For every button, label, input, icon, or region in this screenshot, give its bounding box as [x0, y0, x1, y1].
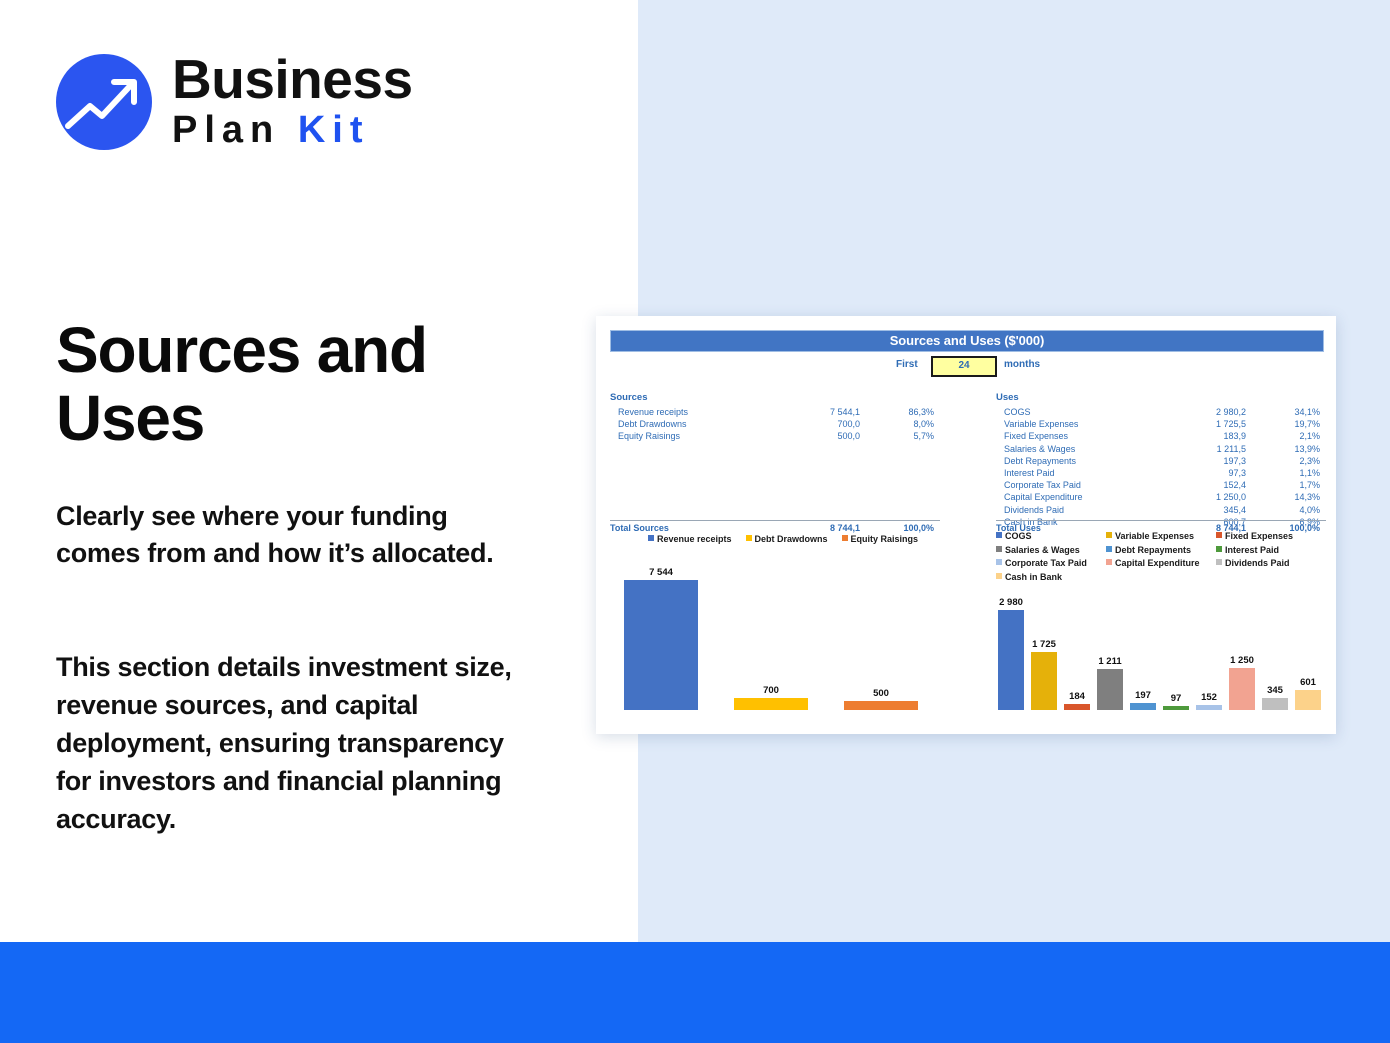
uses-legend-item: Debt Repayments [1106, 544, 1216, 558]
sources-row-pct: 5,7% [868, 430, 934, 442]
uses-legend-label: Debt Repayments [1115, 545, 1191, 555]
uses-row-value: 1 211,5 [1166, 443, 1246, 455]
legend-swatch-icon [996, 532, 1002, 538]
table-row: Interest Paid97,31,1% [996, 467, 1326, 479]
sources-row-name: Equity Raisings [618, 430, 680, 442]
uses-chart-legend: COGSVariable ExpensesFixed ExpensesSalar… [996, 530, 1332, 584]
uses-legend-item: Variable Expenses [1106, 530, 1216, 544]
table-row: Dividends Paid345,44,0% [996, 504, 1326, 516]
brand-line-1: Business [172, 50, 413, 108]
uses-legend-label: Variable Expenses [1115, 531, 1194, 541]
uses-table-header: Uses [996, 392, 1326, 403]
card-title: Sources and Uses ($'000) [610, 330, 1324, 352]
legend-swatch-icon [842, 535, 848, 541]
uses-bar-chart: 2 9801 7251841 211197971521 250345601 [992, 592, 1328, 722]
uses-row-pct: 34,1% [1254, 406, 1320, 418]
legend-swatch-icon [1106, 546, 1112, 552]
growth-arrow-circle-icon [56, 54, 152, 150]
legend-swatch-icon [1216, 559, 1222, 565]
legend-swatch-icon [1106, 532, 1112, 538]
sources-row-name: Debt Drawdowns [618, 418, 687, 430]
uses-row-value: 183,9 [1166, 430, 1246, 442]
uses-row-pct: 2,3% [1254, 455, 1320, 467]
uses-legend-label: Corporate Tax Paid [1005, 558, 1087, 568]
uses-legend-label: Fixed Expenses [1225, 531, 1293, 541]
table-row: Variable Expenses1 725,519,7% [996, 418, 1326, 430]
sources-total-pct: 100,0% [868, 523, 934, 533]
sources-row-value: 500,0 [780, 430, 860, 442]
uses-bar-value-label: 1 250 [1212, 655, 1272, 666]
legend-swatch-icon [746, 535, 752, 541]
sources-bar-group: 700 [734, 698, 808, 710]
sources-legend-label: Equity Raisings [851, 534, 919, 544]
uses-bar [1130, 703, 1156, 710]
table-row: Debt Repayments197,32,3% [996, 455, 1326, 467]
legend-swatch-icon [648, 535, 654, 541]
brand-plan-text: Plan [172, 109, 280, 151]
uses-row-pct: 13,9% [1254, 443, 1320, 455]
uses-row-pct: 14,3% [1254, 491, 1320, 503]
sources-legend-label: Debt Drawdowns [755, 534, 828, 544]
uses-row-pct: 4,0% [1254, 504, 1320, 516]
uses-legend-item: COGS [996, 530, 1106, 544]
legend-swatch-icon [1216, 546, 1222, 552]
sources-row-pct: 86,3% [868, 406, 934, 418]
sources-bar-value-label: 700 [741, 685, 801, 696]
uses-row-value: 1 725,5 [1166, 418, 1246, 430]
uses-bar-group: 197 [1130, 703, 1156, 710]
uses-legend-label: Capital Expenditure [1115, 558, 1200, 568]
sources-total-label: Total Sources [610, 523, 669, 533]
sources-bar-value-label: 7 544 [631, 567, 691, 578]
uses-bar-group: 345 [1262, 698, 1288, 710]
uses-row-pct: 1,1% [1254, 467, 1320, 479]
table-row: Capital Expenditure1 250,014,3% [996, 491, 1326, 503]
sources-table: Sources Revenue receipts7 544,186,3%Debt… [610, 392, 940, 443]
sources-bar-value-label: 500 [851, 688, 911, 699]
uses-row-name: Variable Expenses [1004, 418, 1078, 430]
uses-row-value: 197,3 [1166, 455, 1246, 467]
uses-row-pct: 19,7% [1254, 418, 1320, 430]
uses-bar-group: 601 [1295, 690, 1321, 710]
brand-wordmark: Business Plan Kit [172, 50, 413, 152]
uses-row-pct: 2,1% [1254, 430, 1320, 442]
page-title: Sources and Uses [56, 316, 576, 452]
uses-bar-group: 152 [1196, 705, 1222, 710]
uses-legend-item: Cash in Bank [996, 571, 1106, 585]
spreadsheet-screenshot-card: Sources and Uses ($'000) First 24 months… [596, 316, 1336, 734]
sources-legend-item: Revenue receipts [648, 534, 732, 544]
detail-paragraph: This section details investment size, re… [56, 648, 526, 838]
sources-row-value: 700,0 [780, 418, 860, 430]
uses-row-value: 152,4 [1166, 479, 1246, 491]
sources-bar [844, 701, 918, 710]
brand-logo: Business Plan Kit [56, 46, 456, 158]
uses-legend-item: Capital Expenditure [1106, 557, 1216, 571]
uses-row-value: 345,4 [1166, 504, 1246, 516]
uses-bar [1064, 704, 1090, 710]
table-row: Revenue receipts7 544,186,3% [610, 406, 940, 418]
sources-legend-label: Revenue receipts [657, 534, 732, 544]
sources-bar-group: 500 [844, 701, 918, 710]
sources-bar-group: 7 544 [624, 580, 698, 710]
uses-bar [998, 610, 1024, 710]
sources-bar [624, 580, 698, 710]
uses-legend-label: Cash in Bank [1005, 572, 1062, 582]
uses-bar-value-label: 601 [1278, 677, 1338, 688]
uses-row-name: COGS [1004, 406, 1031, 418]
uses-row-value: 1 250,0 [1166, 491, 1246, 503]
uses-row-name: Corporate Tax Paid [1004, 479, 1081, 491]
brand-line-2: Plan Kit [172, 108, 413, 152]
legend-swatch-icon [996, 573, 1002, 579]
table-row: Salaries & Wages1 211,513,9% [996, 443, 1326, 455]
uses-table: Uses COGS2 980,234,1%Variable Expenses1 … [996, 392, 1326, 528]
uses-bar [1262, 698, 1288, 710]
sources-row-pct: 8,0% [868, 418, 934, 430]
uses-legend-item: Dividends Paid [1216, 557, 1326, 571]
uses-bar-value-label: 1 725 [1014, 639, 1074, 650]
uses-legend-item: Fixed Expenses [1216, 530, 1326, 544]
table-row: Debt Drawdowns700,08,0% [610, 418, 940, 430]
uses-bar-value-label: 1 211 [1080, 656, 1140, 667]
uses-bar [1196, 705, 1222, 710]
sources-row-value: 7 544,1 [780, 406, 860, 418]
uses-row-value: 2 980,2 [1166, 406, 1246, 418]
uses-bar-group: 184 [1064, 704, 1090, 710]
uses-row-name: Salaries & Wages [1004, 443, 1075, 455]
uses-bar-group: 2 980 [998, 610, 1024, 710]
sources-bar-chart: 7 544700500 [610, 562, 940, 722]
months-input[interactable]: 24 [931, 356, 997, 377]
uses-row-name: Capital Expenditure [1004, 491, 1083, 503]
table-row: Equity Raisings500,05,7% [610, 430, 940, 442]
table-row: Corporate Tax Paid152,41,7% [996, 479, 1326, 491]
uses-bar-value-label: 2 980 [981, 597, 1041, 608]
sources-legend-item: Debt Drawdowns [746, 534, 828, 544]
uses-legend-label: Dividends Paid [1225, 558, 1290, 568]
uses-legend-item: Corporate Tax Paid [996, 557, 1106, 571]
legend-swatch-icon [1216, 532, 1222, 538]
uses-row-pct: 1,7% [1254, 479, 1320, 491]
uses-legend-item: Salaries & Wages [996, 544, 1106, 558]
sources-table-header: Sources [610, 392, 940, 403]
months-prefix-label: First [896, 356, 918, 374]
uses-row-name: Interest Paid [1004, 467, 1055, 479]
sources-bar [734, 698, 808, 710]
uses-legend-item: Interest Paid [1216, 544, 1326, 558]
legend-swatch-icon [1106, 559, 1112, 565]
intro-paragraph: Clearly see where your funding comes fro… [56, 498, 526, 572]
uses-bar [1163, 706, 1189, 710]
sources-chart-legend: Revenue receiptsDebt DrawdownsEquity Rai… [628, 534, 938, 544]
uses-legend-label: COGS [1005, 531, 1032, 541]
sources-row-name: Revenue receipts [618, 406, 688, 418]
bottom-accent-bar [0, 942, 1390, 1043]
uses-row-name: Dividends Paid [1004, 504, 1064, 516]
uses-legend-label: Salaries & Wages [1005, 545, 1080, 555]
uses-bar-group: 97 [1163, 706, 1189, 710]
months-suffix-label: months [1004, 356, 1040, 374]
sources-legend-item: Equity Raisings [842, 534, 919, 544]
uses-legend-label: Interest Paid [1225, 545, 1279, 555]
table-row: Fixed Expenses183,92,1% [996, 430, 1326, 442]
uses-row-value: 97,3 [1166, 467, 1246, 479]
sources-total-value: 8 744,1 [780, 523, 860, 533]
table-row: COGS2 980,234,1% [996, 406, 1326, 418]
uses-row-name: Fixed Expenses [1004, 430, 1068, 442]
legend-swatch-icon [996, 546, 1002, 552]
legend-swatch-icon [996, 559, 1002, 565]
uses-bar [1295, 690, 1321, 710]
brand-kit-text: Kit [298, 109, 370, 151]
uses-row-name: Debt Repayments [1004, 455, 1076, 467]
